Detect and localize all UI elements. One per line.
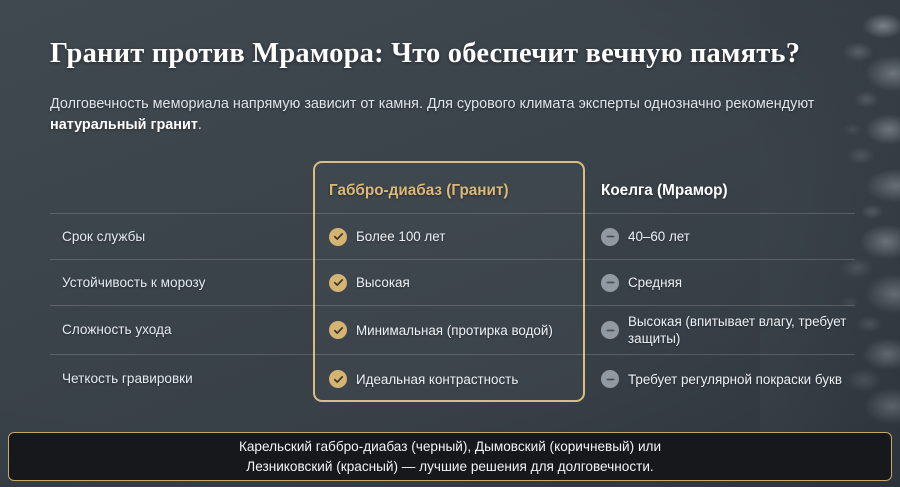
minus-circle-icon: [601, 274, 619, 292]
check-circle-icon: [329, 228, 347, 246]
minus-circle-icon: [601, 321, 619, 339]
table-row: Устойчивость к морозу Высокая: [50, 259, 855, 305]
check-circle-icon: [329, 370, 347, 388]
table-row: Сложность ухода Минимальная (протирка во…: [50, 305, 855, 354]
header-cell-granite: Габбро-диабаз (Гранит): [315, 182, 587, 200]
marble-value: Средняя: [601, 274, 855, 292]
check-circle-icon: [329, 274, 347, 292]
minus-circle-icon: [601, 228, 619, 246]
cell-marble: 40–60 лет: [587, 228, 855, 246]
subtitle-lead: Долговечность мемориала напрямую зависит…: [50, 96, 814, 112]
header-granite-label: Габбро-диабаз (Гранит): [329, 182, 509, 199]
feature-label: Четкость гравировки: [62, 371, 193, 386]
check-circle-icon: [329, 321, 347, 339]
marble-value-text: 40–60 лет: [628, 228, 690, 245]
page-subtitle: Долговечность мемориала напрямую зависит…: [50, 94, 850, 136]
granite-value: Минимальная (протирка водой): [329, 321, 587, 339]
cell-feature: Четкость гравировки: [50, 370, 315, 388]
subtitle-tail: .: [198, 117, 202, 133]
infographic-root: Гранит против Мрамора: Что обеспечит веч…: [0, 0, 900, 487]
cell-granite: Высокая: [315, 274, 587, 292]
table-header-row: Габбро-диабаз (Гранит) Коелга (Мрамор): [50, 168, 855, 213]
recommendation-banner: Карельский габбро-диабаз (черный), Дымов…: [8, 432, 892, 481]
banner-text: Карельский габбро-диабаз (черный), Дымов…: [239, 437, 661, 476]
marble-value: Высокая (впитывает влагу, требует защиты…: [601, 313, 855, 347]
granite-value: Высокая: [329, 274, 587, 292]
feature-label: Срок службы: [62, 229, 145, 244]
granite-value-text: Идеальная контрастность: [356, 371, 518, 388]
page-title: Гранит против Мрамора: Что обеспечит веч…: [50, 38, 800, 70]
granite-value-text: Высокая: [356, 274, 410, 291]
marble-value-text: Средняя: [628, 274, 682, 291]
banner-line-1: Карельский габбро-диабаз (черный), Дымов…: [239, 437, 661, 457]
feature-label: Сложность ухода: [62, 322, 172, 337]
cell-feature: Срок службы: [50, 228, 315, 246]
marble-value: 40–60 лет: [601, 228, 855, 246]
table-row: Срок службы Более 100 лет: [50, 213, 855, 259]
granite-value-text: Минимальная (протирка водой): [356, 322, 553, 339]
minus-circle-icon: [601, 370, 619, 388]
header-marble-label: Коелга (Мрамор): [601, 182, 728, 199]
subtitle-emphasis: натуральный гранит: [50, 117, 198, 133]
granite-value: Более 100 лет: [329, 228, 587, 246]
header-cell-marble: Коелга (Мрамор): [587, 182, 855, 200]
table-row: Четкость гравировки Идеальная контрастно…: [50, 354, 855, 403]
granite-value: Идеальная контрастность: [329, 370, 587, 388]
banner-line-2: Лезниковский (красный) — лучшие решения …: [239, 457, 661, 477]
cell-feature: Устойчивость к морозу: [50, 274, 315, 292]
granite-value-text: Более 100 лет: [356, 228, 445, 245]
cell-feature: Сложность ухода: [50, 321, 315, 339]
marble-value-text: Высокая (впитывает влагу, требует защиты…: [628, 313, 855, 347]
cell-marble: Требует регулярной покраски букв: [587, 370, 855, 388]
comparison-table: Габбро-диабаз (Гранит) Коелга (Мрамор) С…: [50, 168, 855, 403]
cell-marble: Высокая (впитывает влагу, требует защиты…: [587, 313, 855, 347]
cell-granite: Идеальная контрастность: [315, 370, 587, 388]
cell-granite: Более 100 лет: [315, 228, 587, 246]
cell-marble: Средняя: [587, 274, 855, 292]
feature-label: Устойчивость к морозу: [62, 275, 205, 290]
marble-value-text: Требует регулярной покраски букв: [628, 371, 842, 388]
cell-granite: Минимальная (протирка водой): [315, 321, 587, 339]
marble-value: Требует регулярной покраски букв: [601, 370, 855, 388]
